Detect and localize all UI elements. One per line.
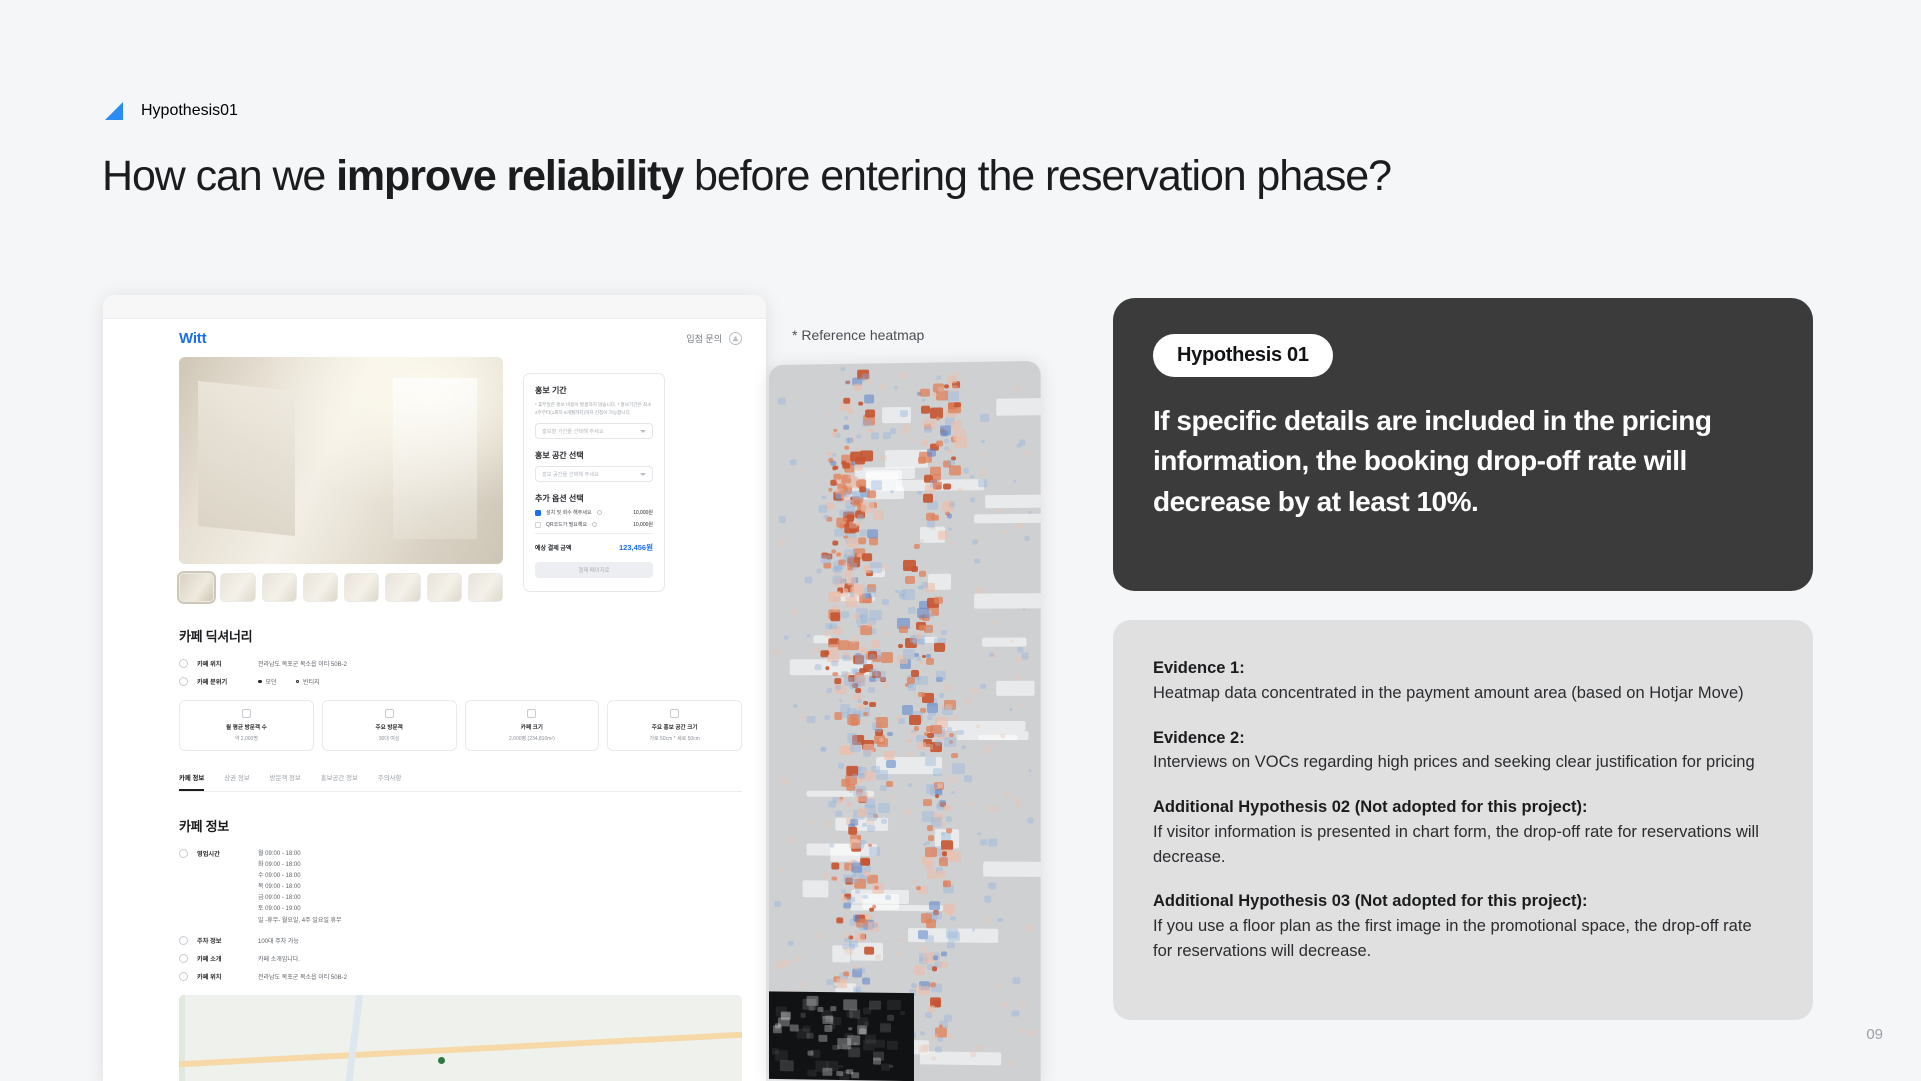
evidence-block: Evidence 1: Heatmap data concentrated in…	[1153, 656, 1773, 706]
cafe-info-title: 카페 정보	[179, 816, 742, 835]
user-avatar-icon[interactable]	[729, 332, 742, 345]
booking-notes: * 휴무일은 홍보 비용이 발생하지 않습니다. * 홍보기간은 최소 2주부터…	[535, 401, 653, 416]
option-row-install[interactable]: 설치 및 회수 해주세요 10,000원	[535, 509, 653, 516]
map-pin-icon	[438, 1057, 445, 1064]
app-topbar: Witt 입점 문의	[103, 319, 766, 357]
status-badge: Hypothesis 01	[1153, 334, 1333, 377]
info-value: 100대 주차 가능	[258, 936, 299, 945]
evidence-body: Interviews on VOCs regarding high prices…	[1153, 750, 1773, 775]
stat-card: 월 평균 방문객 수 약 2,000명	[179, 700, 314, 751]
thumbnail[interactable]	[344, 573, 379, 602]
option-qr-label: QR코드가 필요해요	[546, 521, 587, 528]
info-label: 주차 정보	[197, 936, 249, 945]
total-amount: 123,456원	[619, 542, 653, 553]
location-row-2: 카페 위치 전라남도 목포군 목소읍 이티 50B-2	[179, 972, 742, 981]
legend-label: 모던	[266, 677, 277, 686]
headline-pre: How can we	[102, 152, 336, 200]
period-select-placeholder: 홍보할 기간을 선택해 주세요	[542, 428, 604, 435]
evidence-block: Additional Hypothesis 03 (Not adopted fo…	[1153, 889, 1773, 963]
thumbnail[interactable]	[385, 573, 420, 602]
evidence-block: Evidence 2: Interviews on VOCs regarding…	[1153, 726, 1773, 776]
info-label: 카페 위치	[197, 972, 249, 981]
period-select[interactable]: 홍보할 기간을 선택해 주세요	[535, 423, 653, 439]
stat-card: 주요 방문객 30대 여성	[322, 700, 457, 751]
legend-modern: 모던	[258, 677, 277, 686]
info-value: 전라남도 목포군 목소읍 이티 50B-2	[258, 972, 347, 981]
option-install-label: 설치 및 회수 해주세요	[546, 509, 592, 516]
space-select-title: 홍보 공간 선택	[535, 450, 653, 461]
location-map[interactable]	[179, 995, 742, 1081]
page-number: 09	[1866, 1026, 1883, 1043]
checkbox-unchecked-icon[interactable]	[535, 522, 541, 528]
evidence-heading: Additional Hypothesis 03 (Not adopted fo…	[1153, 889, 1773, 914]
stat-card: 카페 크기 2,000평 (234,810m²)	[465, 700, 600, 751]
stat-value: 2,000평 (234,810m²)	[472, 735, 593, 742]
evidence-body: Heatmap data concentrated in the payment…	[1153, 681, 1773, 706]
hours-item: 토 09:00 - 19:00	[258, 904, 342, 915]
stat-label: 주요 홍보 공간 크기	[614, 723, 735, 731]
hypothesis-statement: If specific details are included in the …	[1153, 401, 1773, 522]
chevron-down-icon	[640, 430, 646, 433]
info-icon	[179, 954, 188, 963]
mood-icon	[179, 677, 188, 686]
heatmap-canvas	[769, 361, 1041, 1081]
hours-item: 목 09:00 - 18:00	[258, 882, 342, 893]
clock-icon	[179, 849, 188, 858]
hero-and-booking: 홍보 기간 * 휴무일은 홍보 비용이 발생하지 않습니다. * 홍보기간은 최…	[179, 357, 742, 602]
triangle-mark-icon	[103, 100, 125, 122]
thumbnail[interactable]	[468, 573, 503, 602]
help-icon[interactable]	[592, 522, 597, 527]
hours-item: 일 -휴무- 월요일, 4주 일요일 휴무	[258, 916, 342, 927]
thumbnail-strip	[179, 573, 503, 602]
option-row-qr[interactable]: QR코드가 필요해요 10,000원	[535, 521, 653, 528]
gallery	[179, 357, 503, 602]
stat-value: 가로 50cm * 세로 50cm	[614, 735, 735, 742]
intro-row: 카페 소개 카페 소개입니다.	[179, 954, 742, 963]
heatmap-caption: * Reference heatmap	[792, 327, 924, 343]
legend-dot-icon	[296, 680, 300, 684]
evidence-heading: Evidence 1:	[1153, 656, 1773, 681]
evidence-heading: Evidence 2:	[1153, 726, 1773, 751]
thumbnail[interactable]	[262, 573, 297, 602]
hours-label: 영업시간	[197, 849, 249, 858]
info-row-location: 카페 위치 전라남도 목포군 목소읍 이티 50B-2	[179, 659, 742, 668]
hours-list: 월 09:00 - 18:00 화 09:00 - 18:00 수 09:00 …	[258, 849, 342, 927]
option-qr-price: 10,000원	[633, 521, 653, 528]
hours-item: 월 09:00 - 18:00	[258, 849, 342, 860]
slide-root: Hypothesis01 How can we improve reliabil…	[0, 0, 1921, 1081]
browser-chrome-bar	[103, 295, 766, 319]
visitors-icon	[242, 709, 251, 718]
parking-icon	[179, 936, 188, 945]
hours-item: 화 09:00 - 18:00	[258, 860, 342, 871]
legend-label: 빈티지	[303, 677, 320, 686]
hours-item: 금 09:00 - 18:00	[258, 893, 342, 904]
hours-row: 영업시간 월 09:00 - 18:00 화 09:00 - 18:00 수 0…	[179, 849, 742, 927]
app-body: 홍보 기간 * 휴무일은 홍보 비용이 발생하지 않습니다. * 홍보기간은 최…	[103, 357, 766, 1081]
place-title: 카페 딕셔너리	[179, 626, 742, 645]
stat-value: 약 2,000명	[186, 735, 307, 742]
headline-post: before entering the reservation phase?	[683, 152, 1391, 200]
thumbnail[interactable]	[179, 573, 214, 602]
tab-cafe-info[interactable]: 카페 정보	[179, 773, 204, 791]
ruler-icon	[670, 709, 679, 718]
page-title: How can we improve reliability before en…	[102, 152, 1391, 201]
checkbox-checked-icon[interactable]	[535, 510, 541, 516]
tab-notice[interactable]: 주의사항	[378, 773, 402, 791]
stat-value: 30대 여성	[329, 735, 450, 742]
info-row-mood: 카페 분위기 모던 빈티지	[179, 677, 742, 686]
thumbnail[interactable]	[427, 573, 462, 602]
evidence-block: Additional Hypothesis 02 (Not adopted fo…	[1153, 795, 1773, 869]
heatmap-reference-image	[769, 361, 1041, 1081]
heatmap-dark-section	[769, 991, 914, 1081]
pin-icon	[179, 659, 188, 668]
tab-visitor-info[interactable]: 방문객 정보	[270, 773, 301, 791]
product-mockup: Witt 입점 문의	[103, 295, 766, 1081]
tab-area-info[interactable]: 상권 정보	[224, 773, 249, 791]
booking-period-title: 홍보 기간	[535, 385, 653, 396]
evidence-body: If you use a floor plan as the first ima…	[1153, 914, 1773, 964]
hero-photo	[179, 357, 503, 564]
eyebrow-label: Hypothesis01	[141, 102, 238, 120]
persona-icon	[385, 709, 394, 718]
info-value: 카페 소개입니다.	[258, 954, 300, 963]
evidence-card: Evidence 1: Heatmap data concentrated in…	[1113, 620, 1813, 1020]
evidence-body: If visitor information is presented in c…	[1153, 820, 1773, 870]
chevron-down-icon	[640, 473, 646, 476]
info-label: 카페 위치	[197, 659, 249, 668]
headline-strong: improve reliability	[336, 152, 683, 200]
space-select[interactable]: 홍보 공간을 선택해 주세요	[535, 466, 653, 482]
hypothesis-card: Hypothesis 01 If specific details are in…	[1113, 298, 1813, 591]
stat-label: 주요 방문객	[329, 723, 450, 731]
total-label: 예상 결제 금액	[535, 543, 571, 552]
options-title: 추가 옵션 선택	[535, 493, 653, 504]
thumbnail[interactable]	[220, 573, 255, 602]
stat-card: 주요 홍보 공간 크기 가로 50cm * 세로 50cm	[607, 700, 742, 751]
tab-space-info[interactable]: 홍보공간 정보	[321, 773, 358, 791]
option-install-price: 10,000원	[633, 509, 653, 516]
info-value: 전라남도 목포군 목소읍 이티 50B-2	[258, 659, 347, 668]
app-logo[interactable]: Witt	[179, 330, 206, 347]
stat-label: 카페 크기	[472, 723, 593, 731]
parking-row: 주차 정보 100대 주차 가능	[179, 936, 742, 945]
area-icon	[527, 709, 536, 718]
inquiry-link[interactable]: 입점 문의	[686, 332, 722, 345]
legend-dot-icon	[258, 680, 262, 684]
legend-vintage: 빈티지	[296, 677, 320, 686]
topbar-actions: 입점 문의	[686, 332, 742, 345]
stats-row: 월 평균 방문객 수 약 2,000명 주요 방문객 30대 여성 카페 크기 …	[179, 700, 742, 751]
hours-item: 수 09:00 - 18:00	[258, 871, 342, 882]
pin-icon	[179, 972, 188, 981]
stat-label: 월 평균 방문객 수	[186, 723, 307, 731]
evidence-heading: Additional Hypothesis 02 (Not adopted fo…	[1153, 795, 1773, 820]
help-icon[interactable]	[597, 510, 602, 515]
booking-panel: 홍보 기간 * 휴무일은 홍보 비용이 발생하지 않습니다. * 홍보기간은 최…	[523, 373, 665, 592]
space-select-placeholder: 홍보 공간을 선택해 주세요	[542, 471, 599, 478]
detail-tabs: 카페 정보 상권 정보 방문객 정보 홍보공간 정보 주의사항	[179, 773, 742, 792]
info-label: 카페 소개	[197, 954, 249, 963]
slide-eyebrow: Hypothesis01	[103, 100, 238, 122]
checkout-button[interactable]: 결제 페이지로	[535, 562, 653, 578]
info-label: 카페 분위기	[197, 677, 249, 686]
thumbnail[interactable]	[303, 573, 338, 602]
total-row: 예상 결제 금액 123,456원	[535, 533, 653, 553]
